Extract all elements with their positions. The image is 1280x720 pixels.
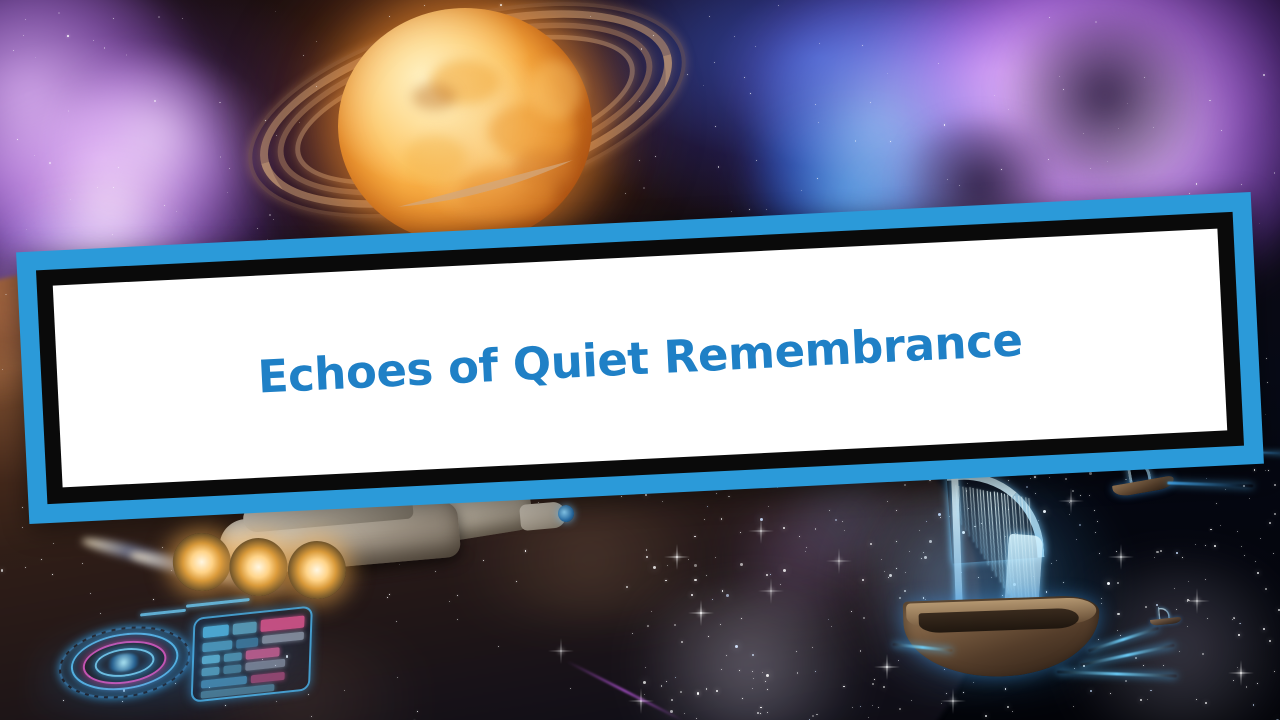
hud-panel [191, 605, 313, 702]
page-title: Echoes of Quiet Remembrance [257, 317, 1024, 399]
banner-inner-border: Echoes of Quiet Remembrance [36, 212, 1244, 504]
harp-boat [893, 463, 1118, 697]
hud-hologram [41, 597, 313, 720]
banner-fill: Echoes of Quiet Remembrance [53, 229, 1227, 488]
slide-canvas: Echoes of Quiet Remembrance [0, 0, 1280, 720]
